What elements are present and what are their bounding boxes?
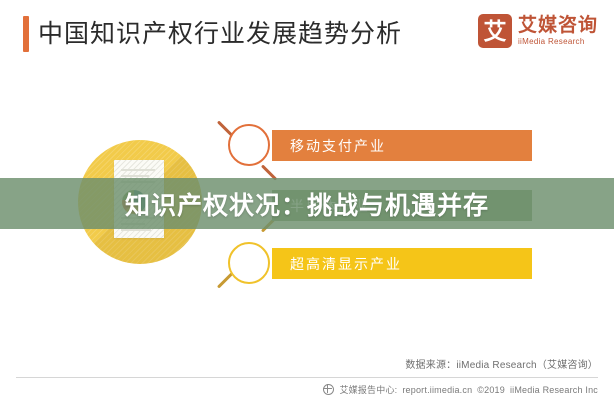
overlay-banner: 知识产权状况：挑战与机遇并存 xyxy=(0,178,614,229)
brand-logo: 艾 艾媒咨询 iiMedia Research xyxy=(478,14,598,48)
document-text-line xyxy=(121,169,155,171)
category-bar-uhd-display: 超高清显示产业 xyxy=(272,248,532,279)
brand-name-cn: 艾媒咨询 xyxy=(518,16,598,35)
globe-icon xyxy=(323,384,334,395)
ring-node-orange xyxy=(228,124,270,166)
company-name: iiMedia Research Inc xyxy=(510,385,598,395)
document-text-line xyxy=(121,229,151,231)
footer-divider xyxy=(16,377,598,378)
slide-header: 中国知识产权行业发展趋势分析 艾 艾媒咨询 iiMedia Research xyxy=(0,0,614,72)
brand-name-en: iiMedia Research xyxy=(518,38,598,46)
report-center-url[interactable]: report.iimedia.cn xyxy=(402,385,472,395)
page-title: 中国知识产权行业发展趋势分析 xyxy=(38,14,402,54)
slide-canvas: 中国知识产权行业发展趋势分析 艾 艾媒咨询 iiMedia Research xyxy=(0,0,614,400)
ring-node-yellow xyxy=(228,242,270,284)
category-bar-mobile-payment: 移动支付产业 xyxy=(272,130,532,161)
data-source-note: 数据来源：iiMedia Research（艾媒咨询） xyxy=(405,356,598,371)
brand-wordmark: 艾媒咨询 iiMedia Research xyxy=(518,16,598,46)
footer-bar: 艾媒报告中心: report.iimedia.cn ©2019 iiMedia … xyxy=(323,383,598,396)
title-accent-bar xyxy=(23,16,29,52)
brand-mark-icon: 艾 xyxy=(478,14,512,48)
document-text-line xyxy=(121,175,149,177)
copyright-year: ©2019 xyxy=(477,385,505,395)
report-center-label: 艾媒报告中心: xyxy=(339,383,397,396)
category-bar-label: 移动支付产业 xyxy=(290,136,386,156)
overlay-banner-text: 知识产权状况：挑战与机遇并存 xyxy=(125,186,489,222)
category-bar-label: 超高清显示产业 xyxy=(290,254,402,274)
